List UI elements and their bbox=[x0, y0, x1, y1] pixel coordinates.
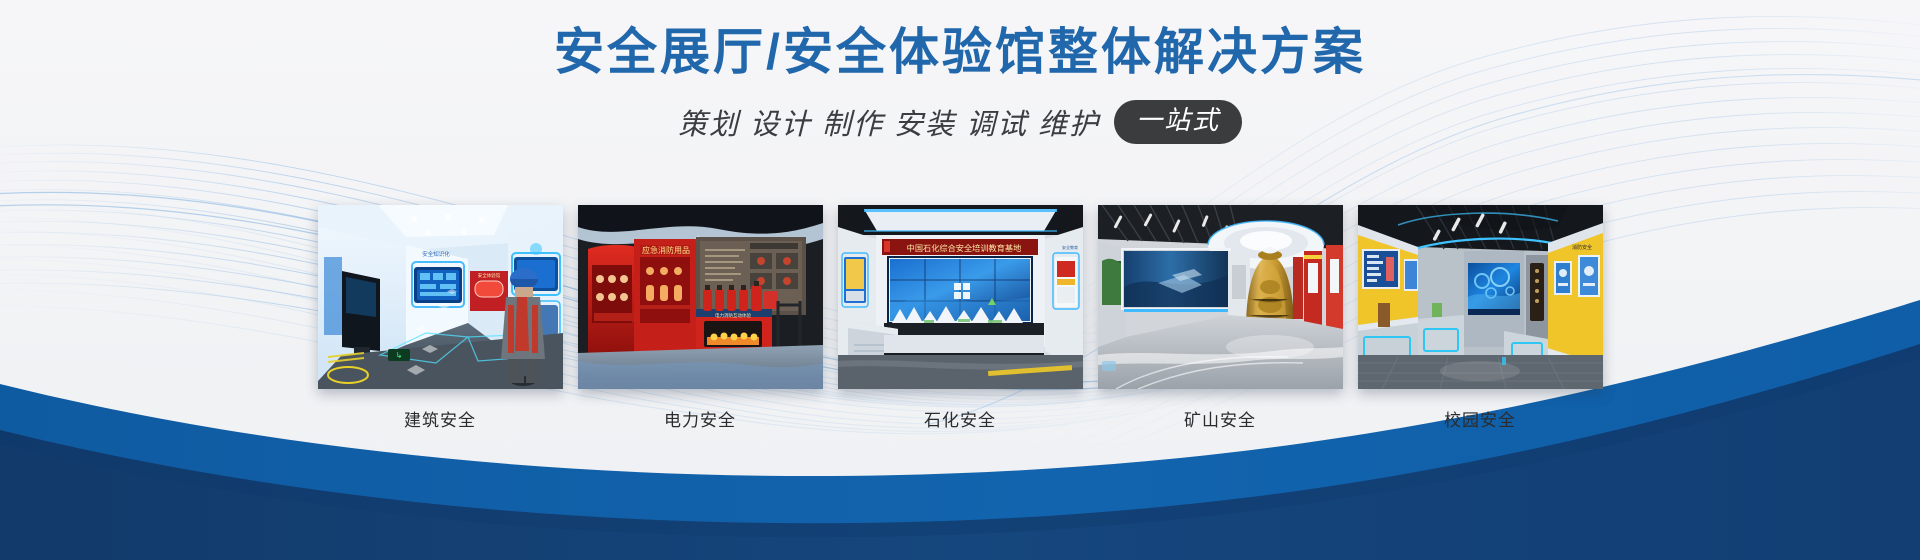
promo-banner: 安全展厅/安全体验馆整体解决方案 策划 设计 制作 安装 调试 维护 一站式 bbox=[0, 0, 1920, 560]
svg-text:安全体验馆: 安全体验馆 bbox=[477, 272, 500, 279]
thumbnail-image-campus[interactable]: 消防安全 bbox=[1358, 205, 1603, 389]
svg-text:消防安全: 消防安全 bbox=[1571, 244, 1591, 251]
thumbnail-image-petrochemical[interactable]: 安全教育 中国石化综合安全培训教育基地 bbox=[838, 205, 1083, 389]
thumbnail-card-campus[interactable]: 消防安全 bbox=[1358, 205, 1603, 431]
showcase-thumbnail-list: 安全知识化 安全体验馆 bbox=[0, 205, 1920, 431]
svg-text:安全知识化: 安全知识化 bbox=[422, 250, 450, 258]
thumbnail-image-construction[interactable]: 安全知识化 安全体验馆 bbox=[318, 205, 563, 389]
thumbnail-caption: 电力安全 bbox=[664, 406, 736, 431]
thumbnail-caption: 石化安全 bbox=[924, 406, 996, 431]
service-steps-text: 策划 设计 制作 安装 调试 维护 bbox=[678, 101, 1100, 143]
svg-text:电力消防互动体验: 电力消防互动体验 bbox=[715, 312, 751, 319]
thumbnail-card-petrochemical[interactable]: 安全教育 中国石化综合安全培训教育基地 bbox=[838, 205, 1083, 431]
thumbnail-card-mining[interactable]: 矿山安全 bbox=[1098, 205, 1343, 431]
svg-text:应急消防用品: 应急消防用品 bbox=[642, 245, 690, 255]
page-title: 安全展厅/安全体验馆整体解决方案 bbox=[0, 20, 1920, 84]
banner-subtitle-area: 策划 设计 制作 安装 调试 维护 一站式 bbox=[0, 100, 1920, 144]
svg-text:安全教育: 安全教育 bbox=[1062, 244, 1078, 250]
thumbnail-card-power[interactable]: 应急消防用品 bbox=[578, 205, 823, 431]
thumbnail-image-power[interactable]: 应急消防用品 bbox=[578, 205, 823, 389]
thumbnail-caption: 矿山安全 bbox=[1184, 406, 1256, 431]
one-stop-badge: 一站式 bbox=[1114, 100, 1242, 144]
svg-text:↳: ↳ bbox=[395, 351, 402, 360]
thumbnail-caption: 校园安全 bbox=[1444, 406, 1516, 431]
banner-title-area: 安全展厅/安全体验馆整体解决方案 bbox=[0, 20, 1920, 84]
thumbnail-caption: 建筑安全 bbox=[404, 406, 476, 431]
svg-text:中国石化综合安全培训教育基地: 中国石化综合安全培训教育基地 bbox=[906, 243, 1021, 253]
thumbnail-image-mining[interactable] bbox=[1098, 205, 1343, 389]
thumbnail-card-construction[interactable]: 安全知识化 安全体验馆 bbox=[318, 205, 563, 431]
